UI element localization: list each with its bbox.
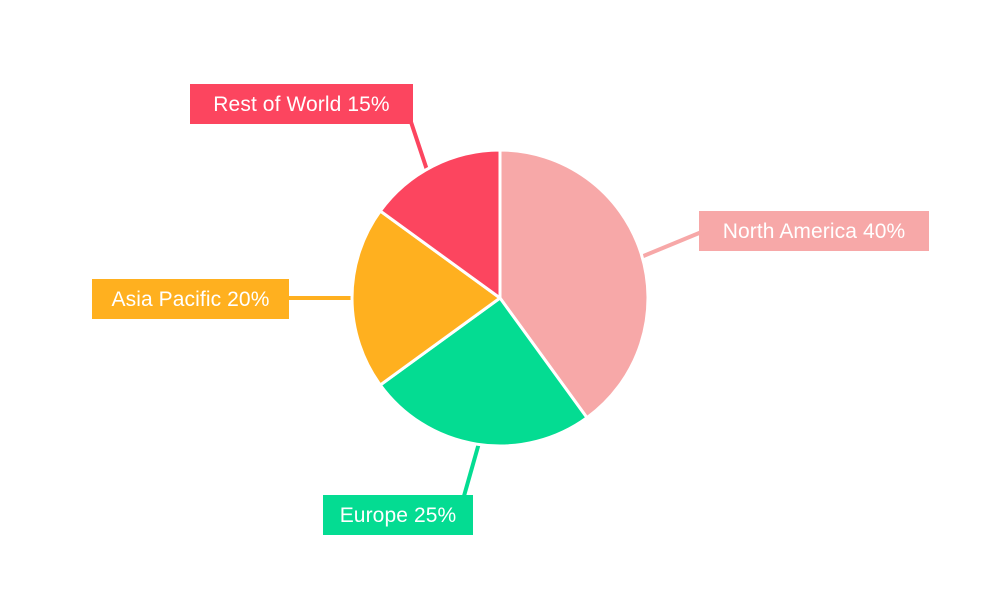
leader-line-europe [464,443,479,496]
pie-label-north-america[interactable]: North America 40% [699,211,929,251]
pie-label-rest-of-world[interactable]: Rest of World 15% [190,84,413,124]
leader-line-north-america [641,231,704,257]
pie-chart-figure: North America 40% Europe 25% Asia Pacifi… [0,0,1000,600]
pie-label-asia-pacific[interactable]: Asia Pacific 20% [92,279,289,319]
pie-label-europe[interactable]: Europe 25% [323,495,473,535]
